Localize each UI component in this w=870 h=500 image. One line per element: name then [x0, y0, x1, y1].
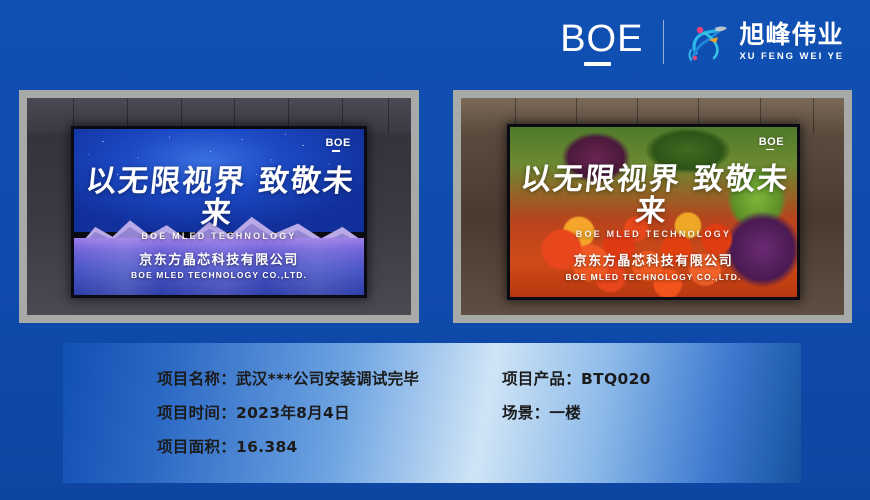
project-name-label: 项目名称：	[157, 370, 236, 388]
project-time-row: 项目时间：2023年8月4日	[157, 401, 502, 423]
scene-label: 场景：	[502, 404, 549, 422]
boe-logo-text: BOE	[560, 19, 643, 59]
screen-company-left: 京东方晶芯科技有限公司 BOE MLED TECHNOLOGY CO.,LTD.	[74, 253, 364, 280]
company-cn-left: 京东方晶芯科技有限公司	[74, 253, 364, 269]
slogan-en-right: BOE MLED TECHNOLOGY	[510, 229, 797, 239]
photo-inner-right: BOE 以无限视界 致敬未来 BOE MLED TECHNOLOGY 京东方晶芯…	[461, 98, 844, 315]
slogan-en-left: BOE MLED TECHNOLOGY	[74, 231, 364, 241]
photo-inner-left: BOE 以无限视界 致敬未来 BOE MLED TECHNOLOGY 京东方晶芯…	[27, 98, 411, 315]
xufeng-logo-cn: 旭峰伟业	[739, 22, 844, 47]
project-name-row: 项目名称：武汉***公司安装调试完毕	[157, 367, 502, 389]
slide-root: BOE 旭峰伟业 XU FENG WEI YE	[0, 0, 870, 500]
screen-slogan-right: 以无限视界 致敬未来 BOE MLED TECHNOLOGY	[510, 164, 797, 239]
boe-logo: BOE	[560, 19, 663, 66]
company-en-right: BOE MLED TECHNOLOGY CO.,LTD.	[510, 272, 797, 282]
scene-value: 一楼	[549, 404, 581, 422]
project-info-panel: 项目名称：武汉***公司安装调试完毕 项目产品：BTQ020 项目时间：2023…	[63, 343, 801, 483]
xufeng-figure-mark-icon	[682, 20, 730, 64]
project-info-grid: 项目名称：武汉***公司安装调试完毕 项目产品：BTQ020 项目时间：2023…	[157, 361, 651, 463]
xufeng-logo-text: 旭峰伟业 XU FENG WEI YE	[739, 22, 844, 62]
header-logo-bar: BOE 旭峰伟业 XU FENG WEI YE	[560, 18, 844, 66]
project-product-row: 项目产品：BTQ020	[502, 367, 651, 389]
screen-boe-logo-right: BOE	[759, 136, 784, 151]
led-screen-left: BOE 以无限视界 致敬未来 BOE MLED TECHNOLOGY 京东方晶芯…	[74, 129, 364, 294]
company-cn-right: 京东方晶芯科技有限公司	[510, 254, 797, 270]
company-en-left: BOE MLED TECHNOLOGY CO.,LTD.	[74, 270, 364, 280]
project-time-value: 2023年8月4日	[236, 404, 350, 422]
project-area-row: 项目面积：16.384	[157, 435, 502, 457]
project-area-label: 项目面积：	[157, 438, 236, 456]
project-area-value: 16.384	[236, 438, 298, 456]
led-screen-bezel-right: BOE 以无限视界 致敬未来 BOE MLED TECHNOLOGY 京东方晶芯…	[507, 124, 800, 300]
slogan-cn-left: 以无限视界 致敬未来	[74, 166, 364, 229]
project-time-label: 项目时间：	[157, 404, 236, 422]
slogan-cn-right: 以无限视界 致敬未来	[510, 164, 797, 227]
screen-boe-logo-left: BOE	[325, 137, 350, 152]
xufeng-logo: 旭峰伟业 XU FENG WEI YE	[682, 20, 844, 64]
screen-company-right: 京东方晶芯科技有限公司 BOE MLED TECHNOLOGY CO.,LTD.	[510, 254, 797, 281]
led-screen-right: BOE 以无限视界 致敬未来 BOE MLED TECHNOLOGY 京东方晶芯…	[510, 127, 797, 297]
screen-slogan-left: 以无限视界 致敬未来 BOE MLED TECHNOLOGY	[74, 166, 364, 241]
led-screen-bezel-left: BOE 以无限视界 致敬未来 BOE MLED TECHNOLOGY 京东方晶芯…	[71, 126, 367, 297]
logo-divider	[663, 20, 664, 64]
boe-logo-underline	[584, 62, 611, 66]
photo-led-display-vegetables[interactable]: BOE 以无限视界 致敬未来 BOE MLED TECHNOLOGY 京东方晶芯…	[453, 90, 852, 323]
project-product-value: BTQ020	[581, 370, 651, 388]
project-product-label: 项目产品：	[502, 370, 581, 388]
xufeng-logo-en: XU FENG WEI YE	[739, 52, 844, 62]
photo-led-display-starry-mountain[interactable]: BOE 以无限视界 致敬未来 BOE MLED TECHNOLOGY 京东方晶芯…	[19, 90, 419, 323]
scene-row: 场景：一楼	[502, 401, 651, 423]
project-name-value: 武汉***公司安装调试完毕	[236, 370, 419, 388]
